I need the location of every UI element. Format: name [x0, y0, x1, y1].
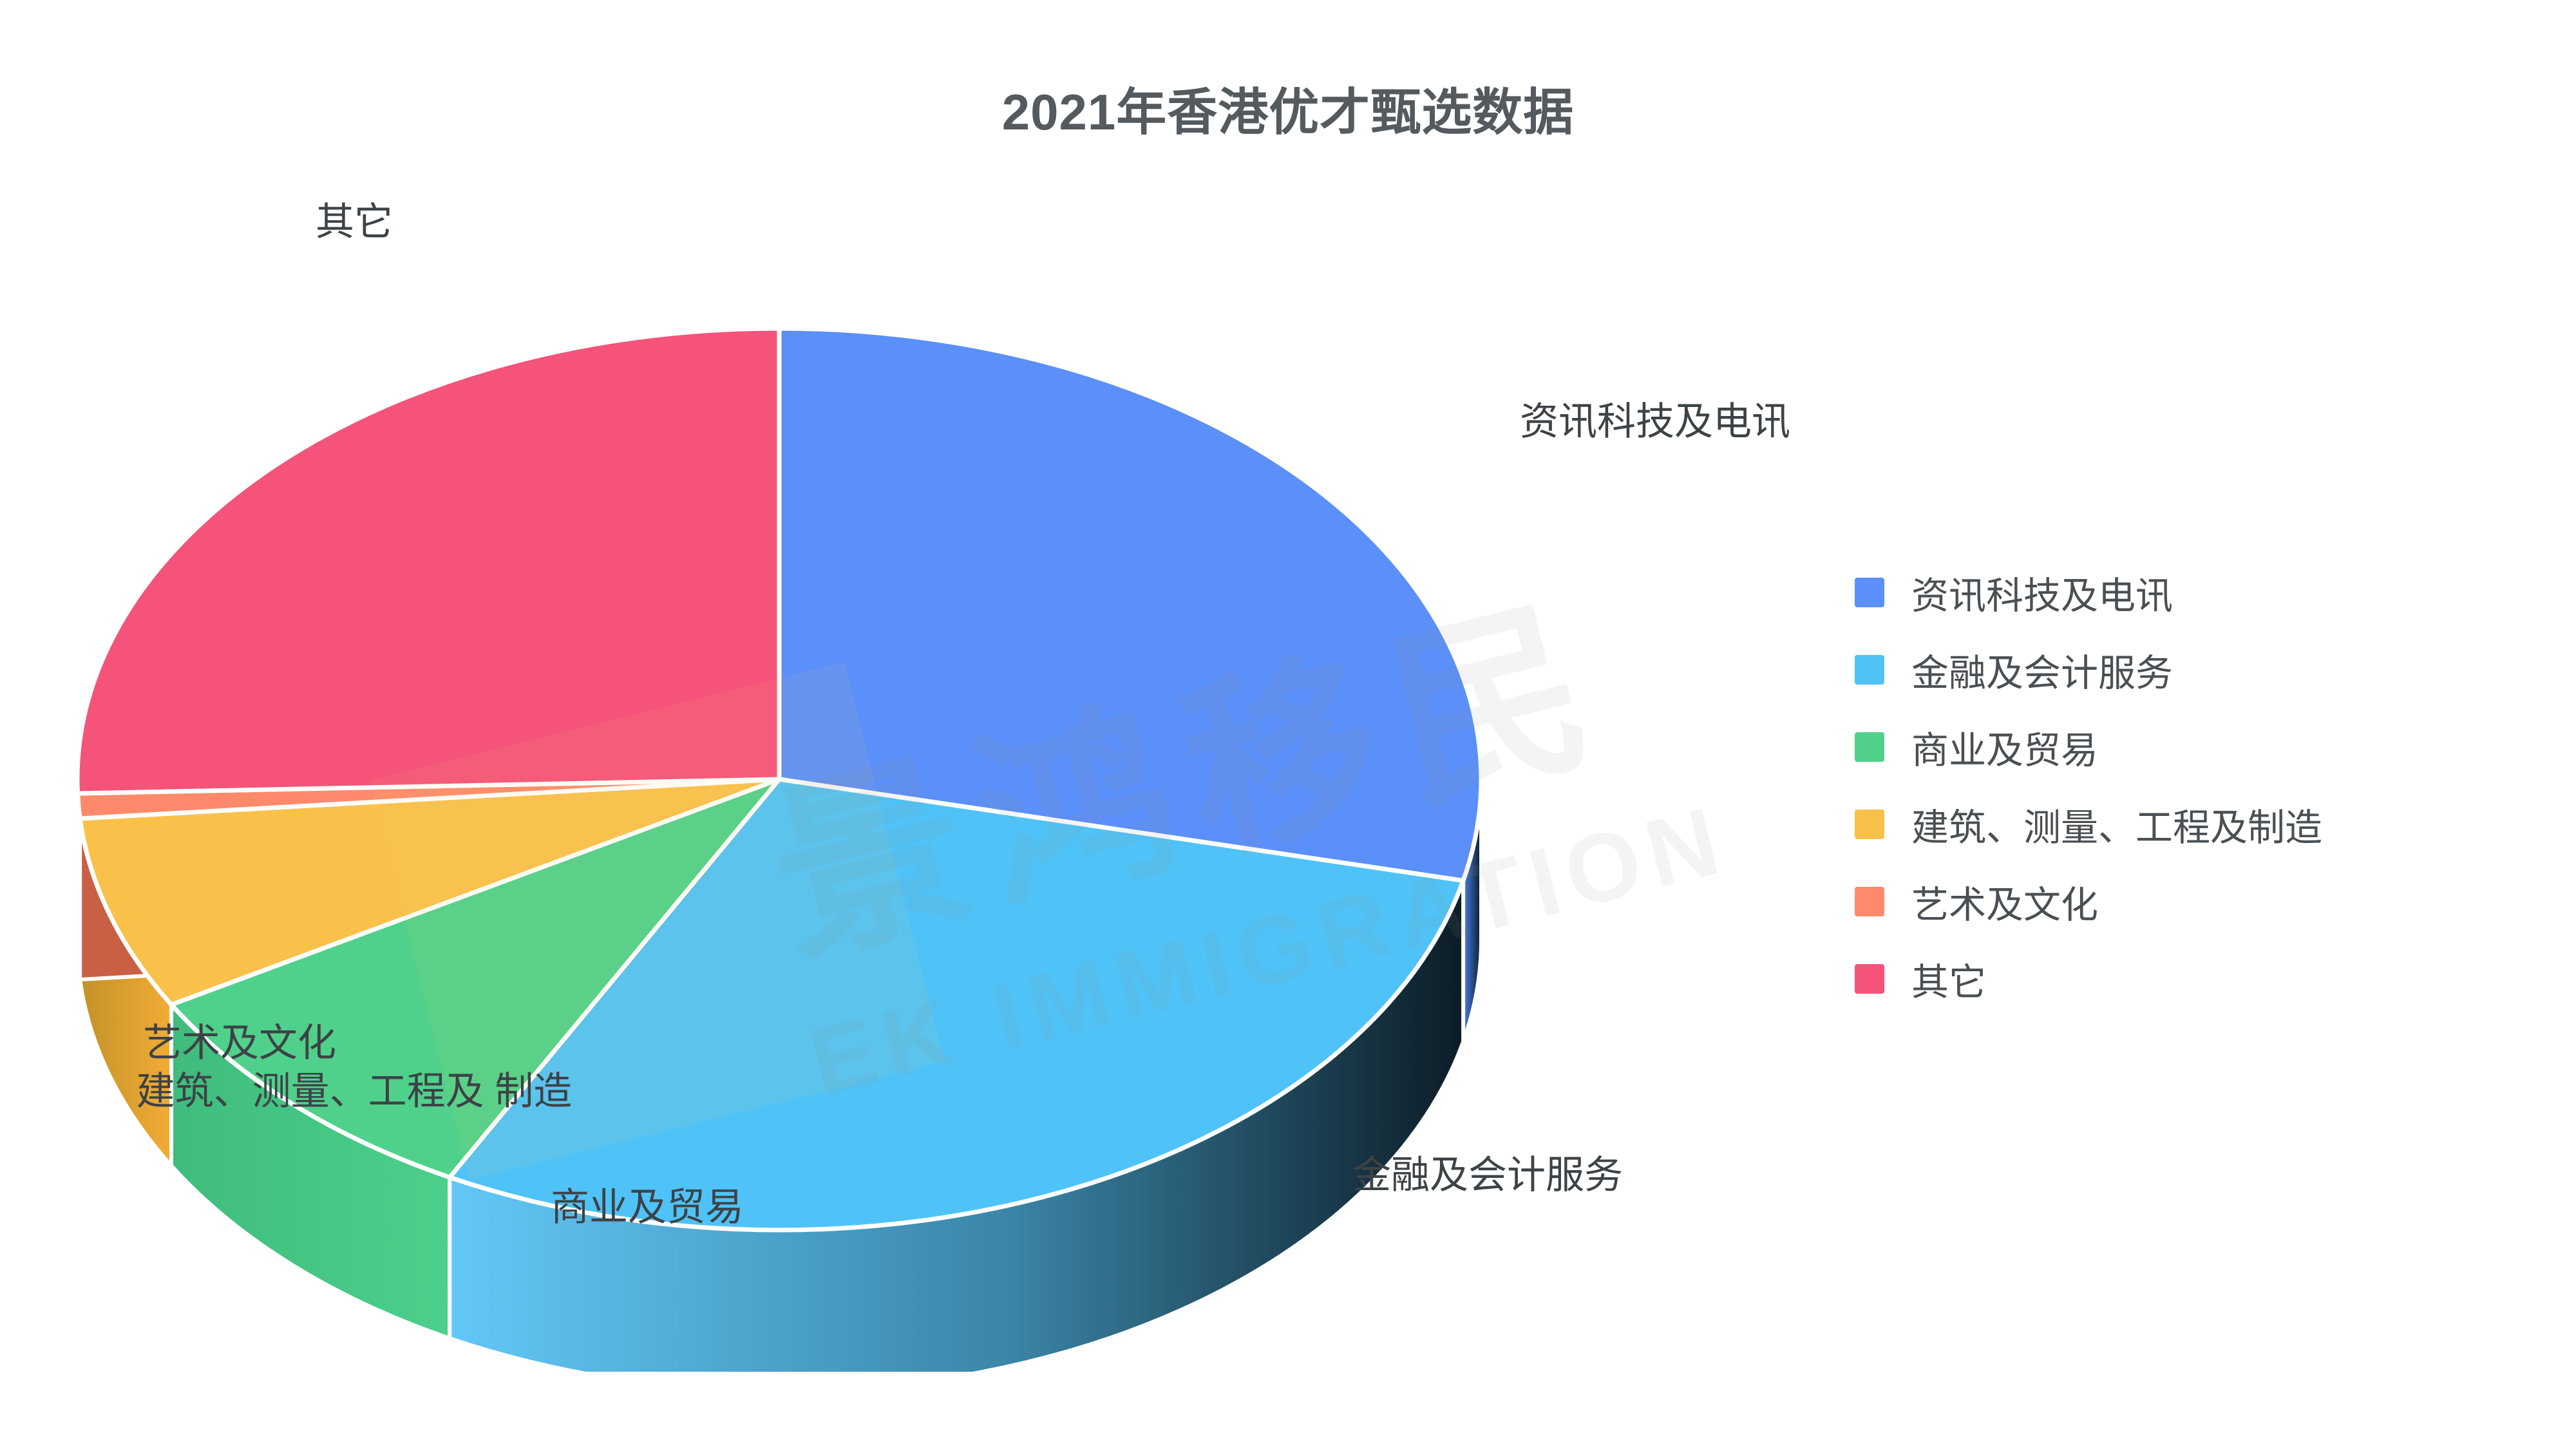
legend-item[interactable]: 商业及贸易: [1855, 708, 2322, 786]
page-title: 2021年香港优才甄选数据: [0, 72, 2576, 144]
legend-label: 建筑、测量、工程及制造: [1911, 797, 2322, 851]
slice-label-other: 其它: [316, 200, 393, 245]
legend-item[interactable]: 艺术及文化: [1855, 863, 2322, 940]
legend-swatch-icon: [1855, 732, 1884, 762]
legend-swatch-icon: [1855, 964, 1884, 994]
chart-page: 2021年香港优才甄选数据: [0, 0, 2576, 1449]
legend-swatch-icon: [1855, 578, 1884, 607]
slice-label-arts: 艺术及文化: [143, 1021, 336, 1066]
legend-swatch-icon: [1855, 655, 1884, 685]
legend-item[interactable]: 建筑、测量、工程及制造: [1855, 786, 2322, 863]
slice-label-finance: 金融及会计服务: [1352, 1153, 1623, 1198]
legend-item[interactable]: 资讯科技及电讯: [1855, 554, 2322, 631]
legend-label: 其它: [1911, 952, 1986, 1006]
legend-label: 金融及会计服务: [1911, 643, 2173, 697]
legend-swatch-icon: [1855, 887, 1884, 916]
slice-label-it: 资讯科技及电讯: [1520, 399, 1790, 445]
legend-label: 艺术及文化: [1911, 875, 2098, 929]
legend: 资讯科技及电讯 金融及会计服务 商业及贸易 建筑、测量、工程及制造 艺术及文化 …: [1855, 554, 2322, 1018]
legend-label: 商业及贸易: [1911, 720, 2098, 774]
legend-item[interactable]: 其它: [1855, 940, 2322, 1018]
slice-label-trade: 商业及贸易: [551, 1185, 744, 1231]
legend-swatch-icon: [1855, 810, 1884, 839]
pie-chart: 景鸿移民 EK IMMIGRATION 资讯科技及电讯 金融及会计服务 商业及贸…: [0, 213, 1868, 1372]
slice-label-construct: 建筑、测量、工程及 制造: [129, 1069, 580, 1115]
legend-label: 资讯科技及电讯: [1911, 565, 2173, 620]
legend-item[interactable]: 金融及会计服务: [1855, 631, 2322, 708]
